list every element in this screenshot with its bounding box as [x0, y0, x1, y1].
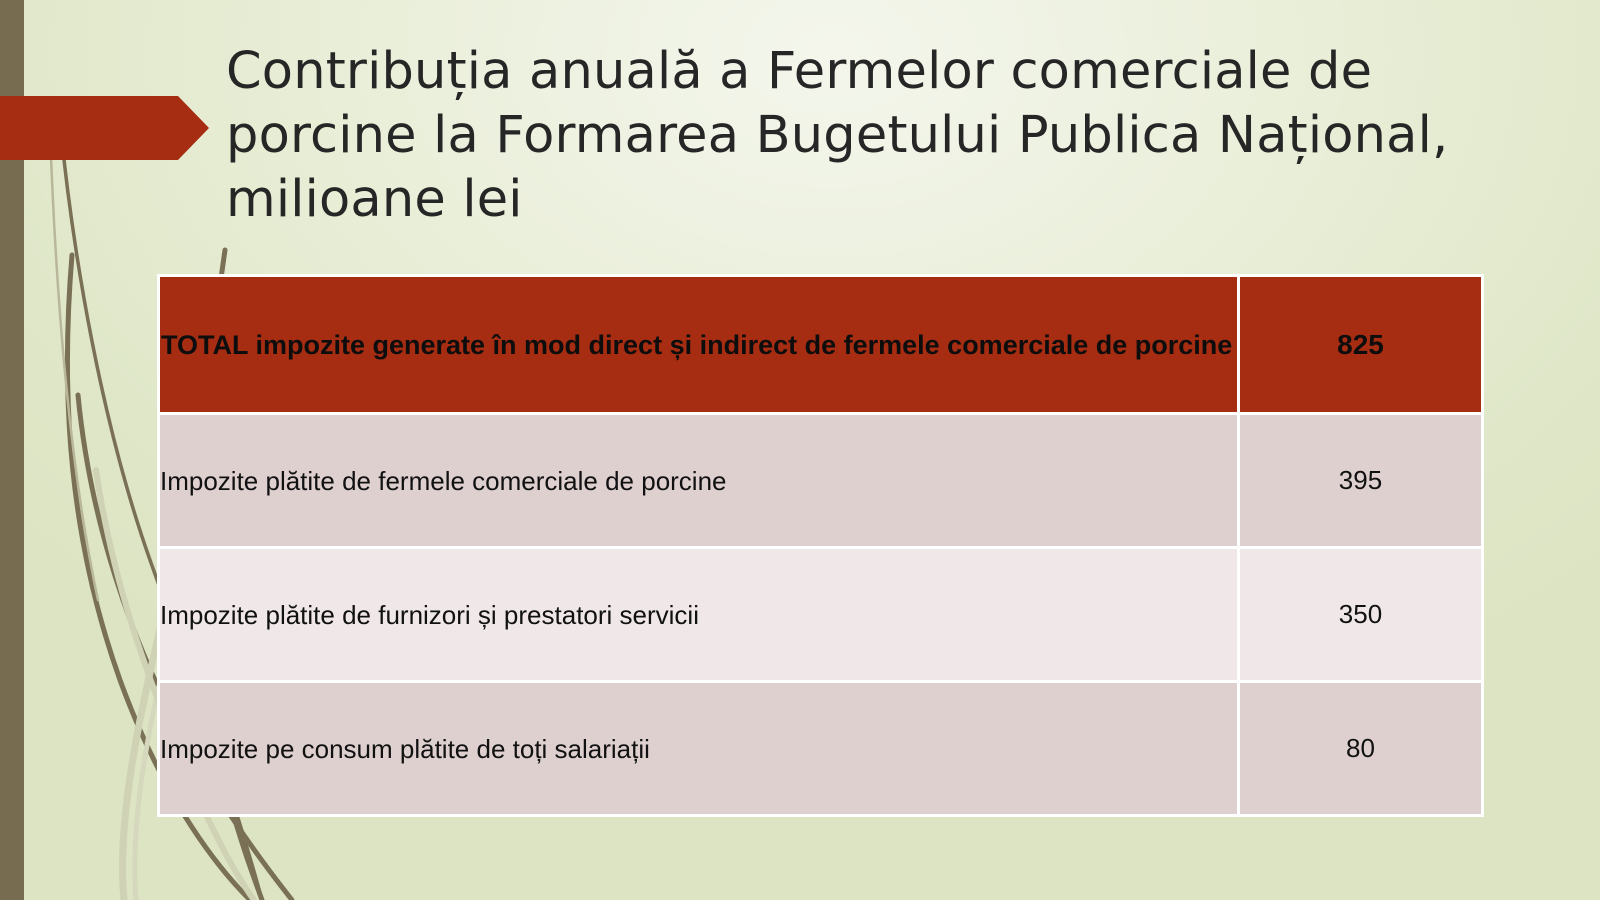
table-cell-value: 350 — [1240, 549, 1481, 680]
table-cell-value: 80 — [1240, 683, 1481, 814]
table-cell-label: Impozite pe consum plătite de toți salar… — [160, 683, 1237, 814]
table-row: Impozite plătite de furnizori și prestat… — [160, 549, 1481, 680]
page-title: Contribuția anuală a Fermelor comerciale… — [226, 40, 1526, 232]
table-row-total: TOTAL impozite generate în mod direct și… — [160, 277, 1481, 412]
table-row: Impozite pe consum plătite de toți salar… — [160, 683, 1481, 814]
table-row: Impozite plătite de fermele comerciale d… — [160, 415, 1481, 546]
budget-contribution-table: TOTAL impozite generate în mod direct și… — [157, 274, 1484, 817]
slide-canvas: Contribuția anuală a Fermelor comerciale… — [0, 0, 1600, 900]
table-cell-label: Impozite plătite de fermele comerciale d… — [160, 415, 1237, 546]
table-cell-total-label: TOTAL impozite generate în mod direct și… — [160, 277, 1237, 412]
red-arrow-banner — [0, 96, 209, 160]
table-cell-total-value: 825 — [1240, 277, 1481, 412]
table-cell-label: Impozite plătite de furnizori și prestat… — [160, 549, 1237, 680]
table-cell-value: 395 — [1240, 415, 1481, 546]
